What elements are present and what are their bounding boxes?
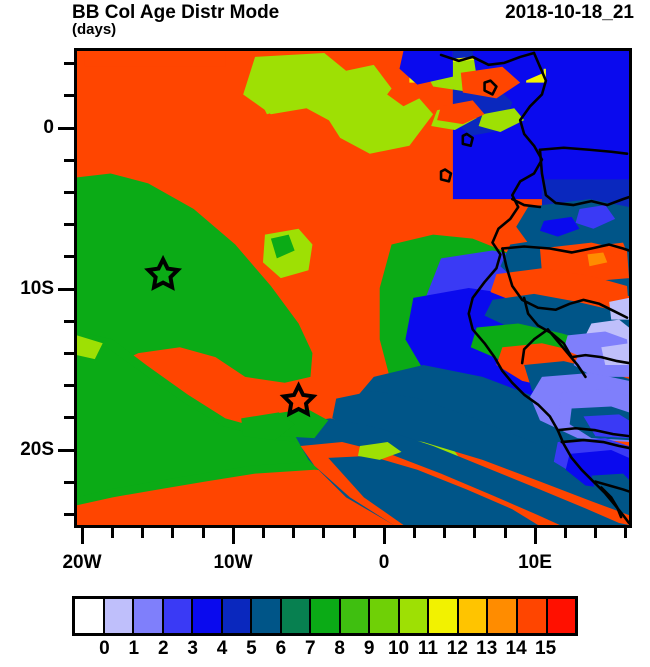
colorbar-label-3: 3 bbox=[178, 638, 208, 660]
x-tick-major-20w bbox=[81, 528, 84, 544]
y-tick-minor-8 bbox=[64, 352, 74, 355]
colorbar-label-10: 10 bbox=[384, 638, 414, 660]
colorbar-label-0: 0 bbox=[89, 638, 119, 660]
colorbar-label-14: 14 bbox=[501, 638, 531, 660]
heatmap-canvas bbox=[77, 51, 629, 525]
x-tick-major-10w bbox=[232, 528, 235, 544]
map-plot-area[interactable] bbox=[74, 48, 632, 528]
units-label: (days) bbox=[72, 21, 116, 38]
colorbar-segment-15[interactable] bbox=[518, 599, 548, 633]
colorbar-label-4: 4 bbox=[207, 638, 237, 660]
colorbar-label-7: 7 bbox=[295, 638, 325, 660]
field-orange-strip-n bbox=[85, 53, 225, 67]
colorbar-segment-12[interactable] bbox=[429, 599, 459, 633]
colorbar-label-13: 13 bbox=[472, 638, 502, 660]
y-tick-minor-11 bbox=[64, 481, 74, 484]
colorbar-label-9: 9 bbox=[354, 638, 384, 660]
x-tick-minor-4 bbox=[202, 528, 205, 538]
y-axis-label-20s: 20S bbox=[0, 439, 54, 461]
y-tick-minor-9 bbox=[64, 384, 74, 387]
y-tick-major-20s bbox=[58, 449, 74, 452]
y-tick-minor-7 bbox=[64, 320, 74, 323]
colorbar[interactable] bbox=[72, 596, 578, 636]
colorbar-label-6: 6 bbox=[266, 638, 296, 660]
colorbar-segment-6[interactable] bbox=[252, 599, 282, 633]
x-tick-minor-12 bbox=[504, 528, 507, 538]
colorbar-segment-7[interactable] bbox=[282, 599, 312, 633]
colorbar-segment-13[interactable] bbox=[459, 599, 489, 633]
x-tick-minor-8 bbox=[353, 528, 356, 538]
colorbar-segment-0[interactable] bbox=[75, 599, 105, 633]
figure-root: BB Col Age Distr Mode (days) 2018-10-18_… bbox=[0, 0, 650, 667]
x-tick-minor-3 bbox=[171, 528, 174, 538]
colorbar-segment-1[interactable] bbox=[105, 599, 135, 633]
colorbar-segment-16[interactable] bbox=[548, 599, 576, 633]
y-tick-minor-6 bbox=[64, 255, 74, 258]
y-tick-major-10s bbox=[58, 288, 74, 291]
colorbar-tick-labels: 0123456789101112131415 bbox=[72, 638, 578, 664]
y-tick-minor-5 bbox=[64, 223, 74, 226]
colorbar-label-8: 8 bbox=[325, 638, 355, 660]
x-tick-minor-6 bbox=[292, 528, 295, 538]
x-axis-label-10e: 10E bbox=[490, 552, 580, 574]
colorbar-segment-14[interactable] bbox=[488, 599, 518, 633]
y-tick-minor-2 bbox=[64, 94, 74, 97]
y-tick-minor-12 bbox=[64, 513, 74, 516]
x-tick-minor-15 bbox=[624, 528, 627, 538]
colorbar-label-15: 15 bbox=[531, 638, 561, 660]
x-tick-minor-1 bbox=[111, 528, 114, 538]
colorbar-segment-3[interactable] bbox=[164, 599, 194, 633]
timestamp-label: 2018-10-18_21 bbox=[505, 2, 634, 24]
colorbar-segment-2[interactable] bbox=[134, 599, 164, 633]
y-axis-label-10s: 10S bbox=[0, 278, 54, 300]
x-axis-label-10w: 10W bbox=[188, 552, 278, 574]
y-axis-label-0: 0 bbox=[0, 117, 54, 139]
colorbar-segment-5[interactable] bbox=[223, 599, 253, 633]
colorbar-segment-10[interactable] bbox=[370, 599, 400, 633]
x-tick-minor-10 bbox=[443, 528, 446, 538]
x-tick-minor-9 bbox=[413, 528, 416, 538]
x-tick-major-0 bbox=[383, 528, 386, 544]
y-tick-minor-1 bbox=[64, 62, 74, 65]
y-tick-minor-4 bbox=[64, 191, 74, 194]
x-tick-minor-5 bbox=[262, 528, 265, 538]
x-tick-major-10e bbox=[534, 528, 537, 544]
colorbar-label-1: 1 bbox=[119, 638, 149, 660]
colorbar-label-5: 5 bbox=[236, 638, 266, 660]
x-tick-minor-2 bbox=[141, 528, 144, 538]
colorbar-segment-4[interactable] bbox=[193, 599, 223, 633]
colorbar-segment-8[interactable] bbox=[311, 599, 341, 633]
colorbar-label-12: 12 bbox=[442, 638, 472, 660]
colorbar-label-11: 11 bbox=[413, 638, 443, 660]
x-axis-label-0: 0 bbox=[339, 552, 429, 574]
y-tick-minor-3 bbox=[64, 159, 74, 162]
x-tick-minor-13 bbox=[564, 528, 567, 538]
y-tick-major-0 bbox=[58, 127, 74, 130]
colorbar-segment-9[interactable] bbox=[341, 599, 371, 633]
x-tick-minor-11 bbox=[473, 528, 476, 538]
x-axis-label-20w: 20W bbox=[37, 552, 127, 574]
x-tick-minor-14 bbox=[594, 528, 597, 538]
y-tick-minor-10 bbox=[64, 416, 74, 419]
x-tick-minor-7 bbox=[322, 528, 325, 538]
colorbar-label-2: 2 bbox=[148, 638, 178, 660]
colorbar-segment-11[interactable] bbox=[400, 599, 430, 633]
